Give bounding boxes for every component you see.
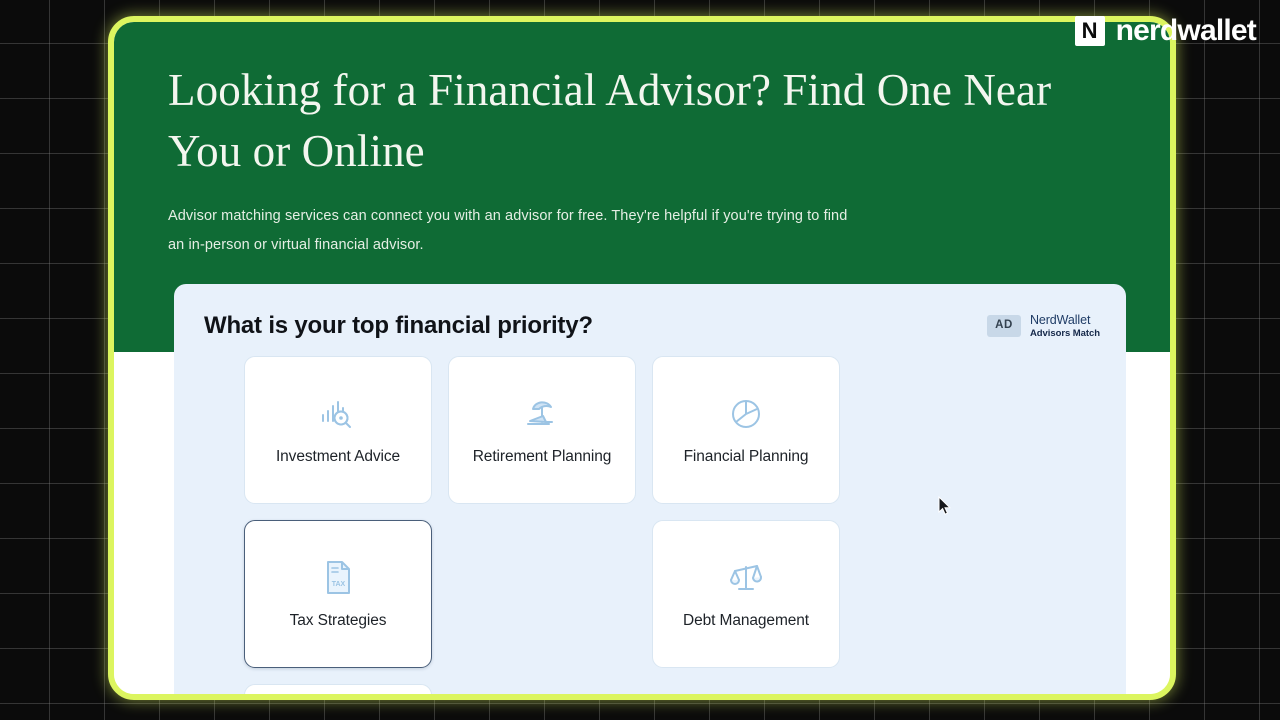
option-retirement-planning[interactable]: Retirement Planning — [448, 356, 636, 504]
option-label: Tax Strategies — [290, 611, 387, 631]
priority-options-grid: Investment Advice Retirement Planning — [234, 340, 948, 700]
option-investment-advice[interactable]: Investment Advice — [244, 356, 432, 504]
svg-text:TAX: TAX — [332, 581, 346, 588]
option-label: Investment Advice — [276, 447, 400, 467]
bar-chart-magnifier-icon — [317, 393, 359, 435]
ad-chip-label: AD — [987, 315, 1021, 337]
nerdwallet-logo: N nerdwallet — [1075, 14, 1256, 48]
option-tax-strategies[interactable]: TAX Tax Strategies — [244, 520, 432, 668]
ad-brand-name: NerdWallet — [1030, 313, 1100, 328]
option-debt-management[interactable]: Debt Management — [652, 520, 840, 668]
tax-document-icon: TAX — [317, 557, 359, 599]
balance-scales-icon — [725, 557, 767, 599]
nerdwallet-wordmark: nerdwallet — [1116, 14, 1256, 48]
nerdwallet-mark-icon: N — [1075, 16, 1105, 46]
option-financial-planning[interactable]: Financial Planning — [652, 356, 840, 504]
advisor-match-panel: What is your top financial priority? AD … — [174, 284, 1126, 700]
option-label: Financial Planning — [684, 447, 809, 467]
panel-question: What is your top financial priority? — [204, 312, 593, 340]
beach-chair-umbrella-icon — [521, 393, 563, 435]
hero-subheadline: Advisor matching services can connect yo… — [168, 202, 858, 259]
option-other[interactable]: Other — [244, 684, 432, 700]
ad-disclosure-badge: AD NerdWallet Advisors Match — [987, 313, 1100, 339]
page-title: Looking for a Financial Advisor? Find On… — [168, 60, 1083, 182]
pie-chart-icon — [725, 393, 767, 435]
panel-header: What is your top financial priority? AD … — [174, 284, 1126, 340]
option-label: Retirement Planning — [473, 447, 612, 467]
ad-product-name: Advisors Match — [1030, 328, 1100, 339]
ad-frame: Looking for a Financial Advisor? Find On… — [108, 16, 1176, 700]
option-label: Debt Management — [683, 611, 809, 631]
